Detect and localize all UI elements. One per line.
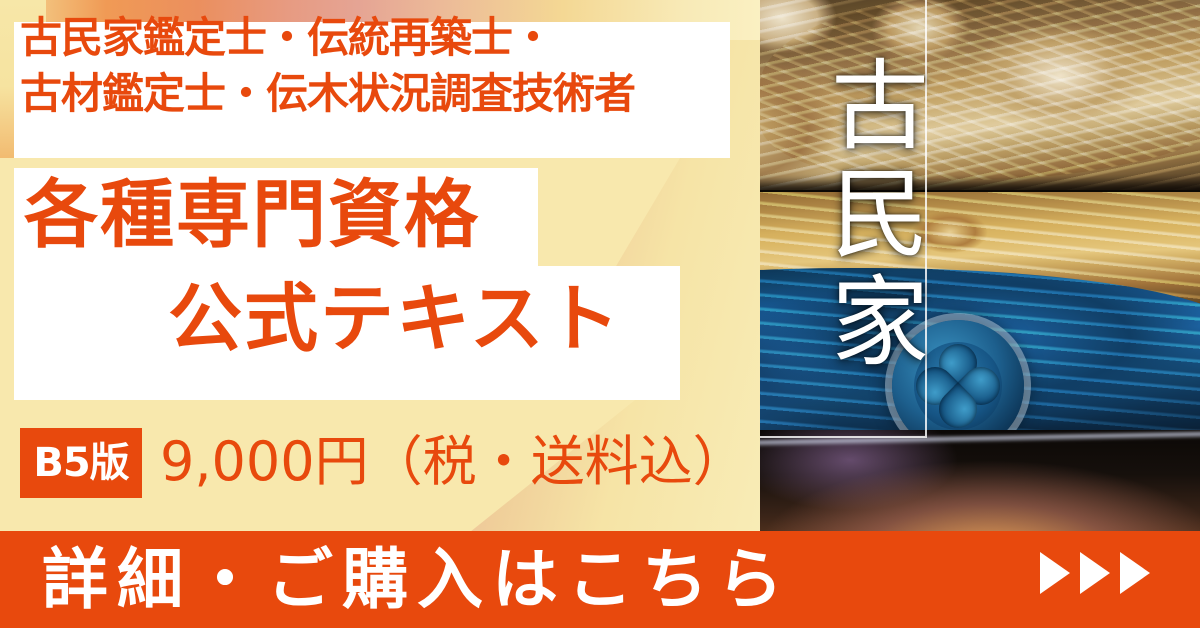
qualifications-line-1: 古民家鑑定士・伝統再築士・ <box>20 10 720 66</box>
headline-line-2: 公式テキスト <box>168 282 622 356</box>
qualifications-line-2: 古材鑑定士・伝木状況調査技術者 <box>20 66 720 122</box>
cta-label: 詳細・ご購入はこちら <box>42 536 792 623</box>
price-text: 9,000円（税・送料込） <box>160 430 747 495</box>
qualifications-text: 古民家鑑定士・伝統再築士・ 古材鑑定士・伝木状況調査技術者 <box>20 10 720 122</box>
cta-arrow-group <box>1040 552 1150 594</box>
chevron-right-icon <box>1080 552 1110 594</box>
promo-banner[interactable]: 古民家 伝統構法 古民家活用のための調査と再生の 古民家鑑定士・伝統再築士・ 古… <box>0 0 1200 628</box>
size-badge: B5版 <box>20 428 142 498</box>
book-title-vertical: 古民家 <box>756 6 924 426</box>
chevron-right-icon <box>1040 552 1070 594</box>
size-badge-label: B5版 <box>33 443 128 483</box>
chevron-right-icon <box>1120 552 1150 594</box>
headline-line-1: 各種専門資格 <box>24 178 480 252</box>
cta-bar[interactable]: 詳細・ご購入はこちら <box>0 531 1200 628</box>
